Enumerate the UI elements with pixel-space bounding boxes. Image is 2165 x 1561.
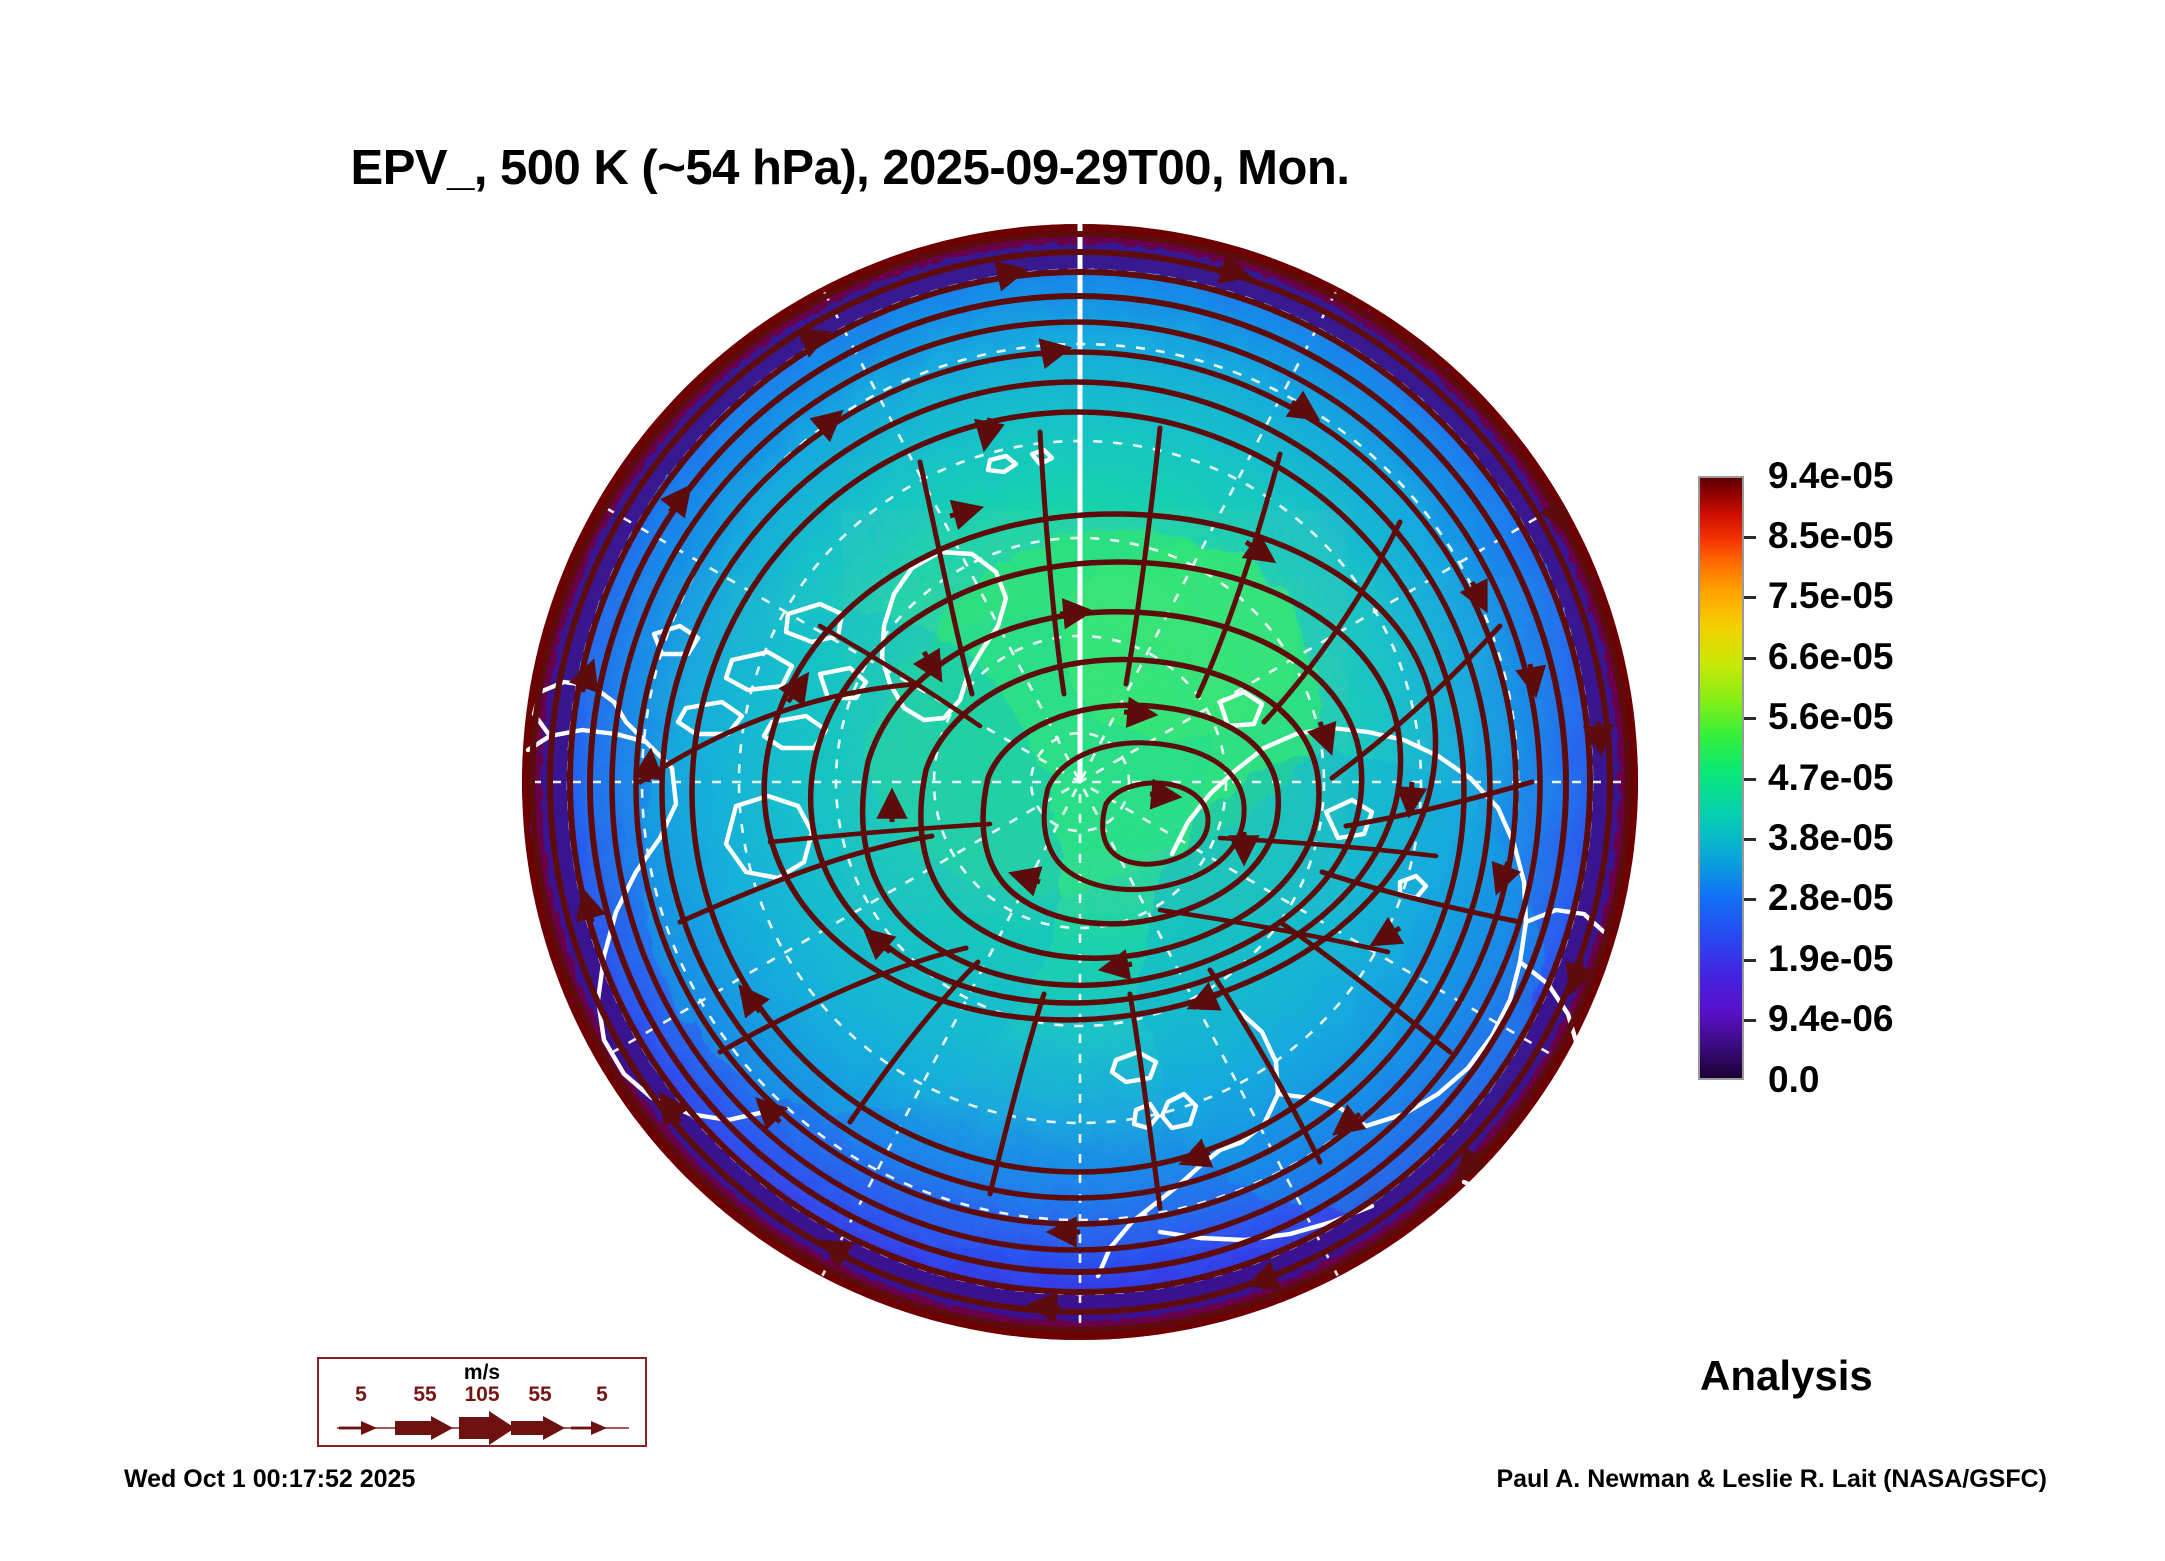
page-title: EPV_, 500 K (~54 hPa), 2025-09-29T00, Mo… [0,140,1700,196]
colorbar-label-7: 2.8e-05 [1768,877,1894,919]
colorbar-tick [1744,536,1756,539]
timestamp-label: Wed Oct 1 00:17:52 2025 [124,1465,415,1494]
credits-label: Paul A. Newman & Leslie R. Lait (NASA/GS… [1496,1465,2047,1494]
colorbar-tick [1744,838,1756,841]
colorbar-label-9: 9.4e-06 [1768,998,1894,1040]
colorbar: 9.4e-05 8.5e-05 7.5e-05 6.6e-05 5.6e-05 … [1698,476,2118,1096]
colorbar-tick [1744,778,1756,781]
colorbar-label-10: 0.0 [1768,1059,1819,1101]
wind-legend-arrow-scale [319,1411,645,1445]
colorbar-label-2: 7.5e-05 [1768,575,1894,617]
colorbar-label-1: 8.5e-05 [1768,515,1894,557]
colorbar-label-0: 9.4e-05 [1768,455,1894,497]
colorbar-tick [1744,657,1756,660]
colorbar-tick [1744,717,1756,720]
polar-map-panel [520,222,1640,1342]
wind-legend-unit-label: m/s [319,1361,645,1385]
wind-tick-label-1: 55 [413,1383,436,1407]
colorbar-tick [1744,596,1756,599]
polar-map [520,222,1640,1342]
colorbar-label-5: 4.7e-05 [1768,757,1894,799]
wind-tick-label-0: 5 [355,1383,367,1407]
analysis-label: Analysis [1700,1352,1873,1400]
colorbar-tick [1744,959,1756,962]
colorbar-label-3: 6.6e-05 [1768,636,1894,678]
colorbar-label-4: 5.6e-05 [1768,696,1894,738]
colorbar-label-8: 1.9e-05 [1768,938,1894,980]
wind-tick-label-3: 55 [528,1383,551,1407]
wind-tick-label-2: 105 [464,1383,499,1407]
wind-tick-label-4: 5 [596,1383,608,1407]
wind-speed-legend: m/s 5 55 105 55 5 [317,1357,647,1447]
colorbar-tick [1744,898,1756,901]
colorbar-label-6: 3.8e-05 [1768,817,1894,859]
colorbar-gradient [1698,476,1744,1080]
colorbar-tick [1744,1019,1756,1022]
